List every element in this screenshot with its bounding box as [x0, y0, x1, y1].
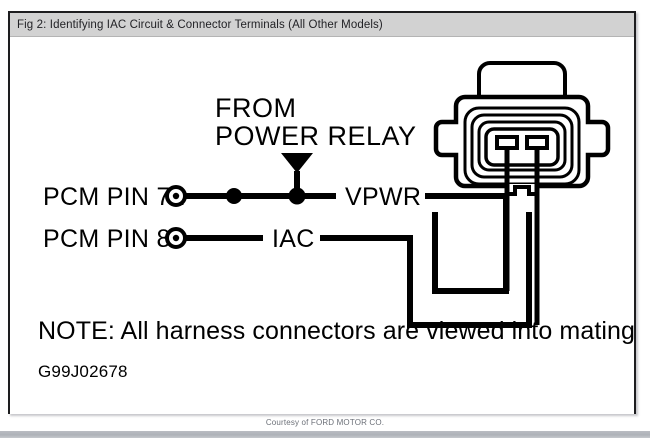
- pin-71-terminal-icon: [167, 187, 185, 205]
- pcm-pin-83-label: PCM PIN 83: [43, 225, 185, 253]
- figure-panel: Fig 2: Identifying IAC Circuit & Connect…: [8, 11, 636, 414]
- vpwr-wire-right: [425, 196, 506, 291]
- connector-keyway-notch: [507, 184, 537, 194]
- vpwr-label: VPWR: [345, 183, 421, 211]
- power-relay-label-line1: FROM: [215, 93, 296, 123]
- figure-viewer: Fig 2: Identifying IAC Circuit & Connect…: [0, 0, 650, 438]
- power-relay-label-line2: POWER RELAY: [215, 121, 417, 151]
- courtesy-text: Courtesy of FORD MOTOR CO.: [266, 418, 384, 427]
- harness-connector-graphic: [435, 63, 608, 212]
- note-text: NOTE: All harness connectors are viewed …: [38, 317, 634, 345]
- bottom-divider: [0, 431, 650, 438]
- wiring-diagram-canvas: FROM POWER RELAY PCM PIN 71: [10, 37, 634, 414]
- drawing-code: G99J02678: [38, 362, 128, 381]
- iac-wire-right: [320, 212, 529, 325]
- figure-titlebar: Fig 2: Identifying IAC Circuit & Connect…: [10, 13, 634, 37]
- vpwr-junction-dot-2: [289, 188, 306, 205]
- wiring-diagram-svg: FROM POWER RELAY PCM PIN 71: [10, 37, 634, 414]
- figure-title: Fig 2: Identifying IAC Circuit & Connect…: [10, 19, 383, 31]
- connector-outer-body: [436, 97, 608, 186]
- iac-label: IAC: [272, 225, 315, 253]
- pcm-pin-71-label: PCM PIN 71: [43, 183, 185, 211]
- vpwr-junction-dot-1: [226, 188, 242, 204]
- pin-83-terminal-icon: [167, 229, 185, 247]
